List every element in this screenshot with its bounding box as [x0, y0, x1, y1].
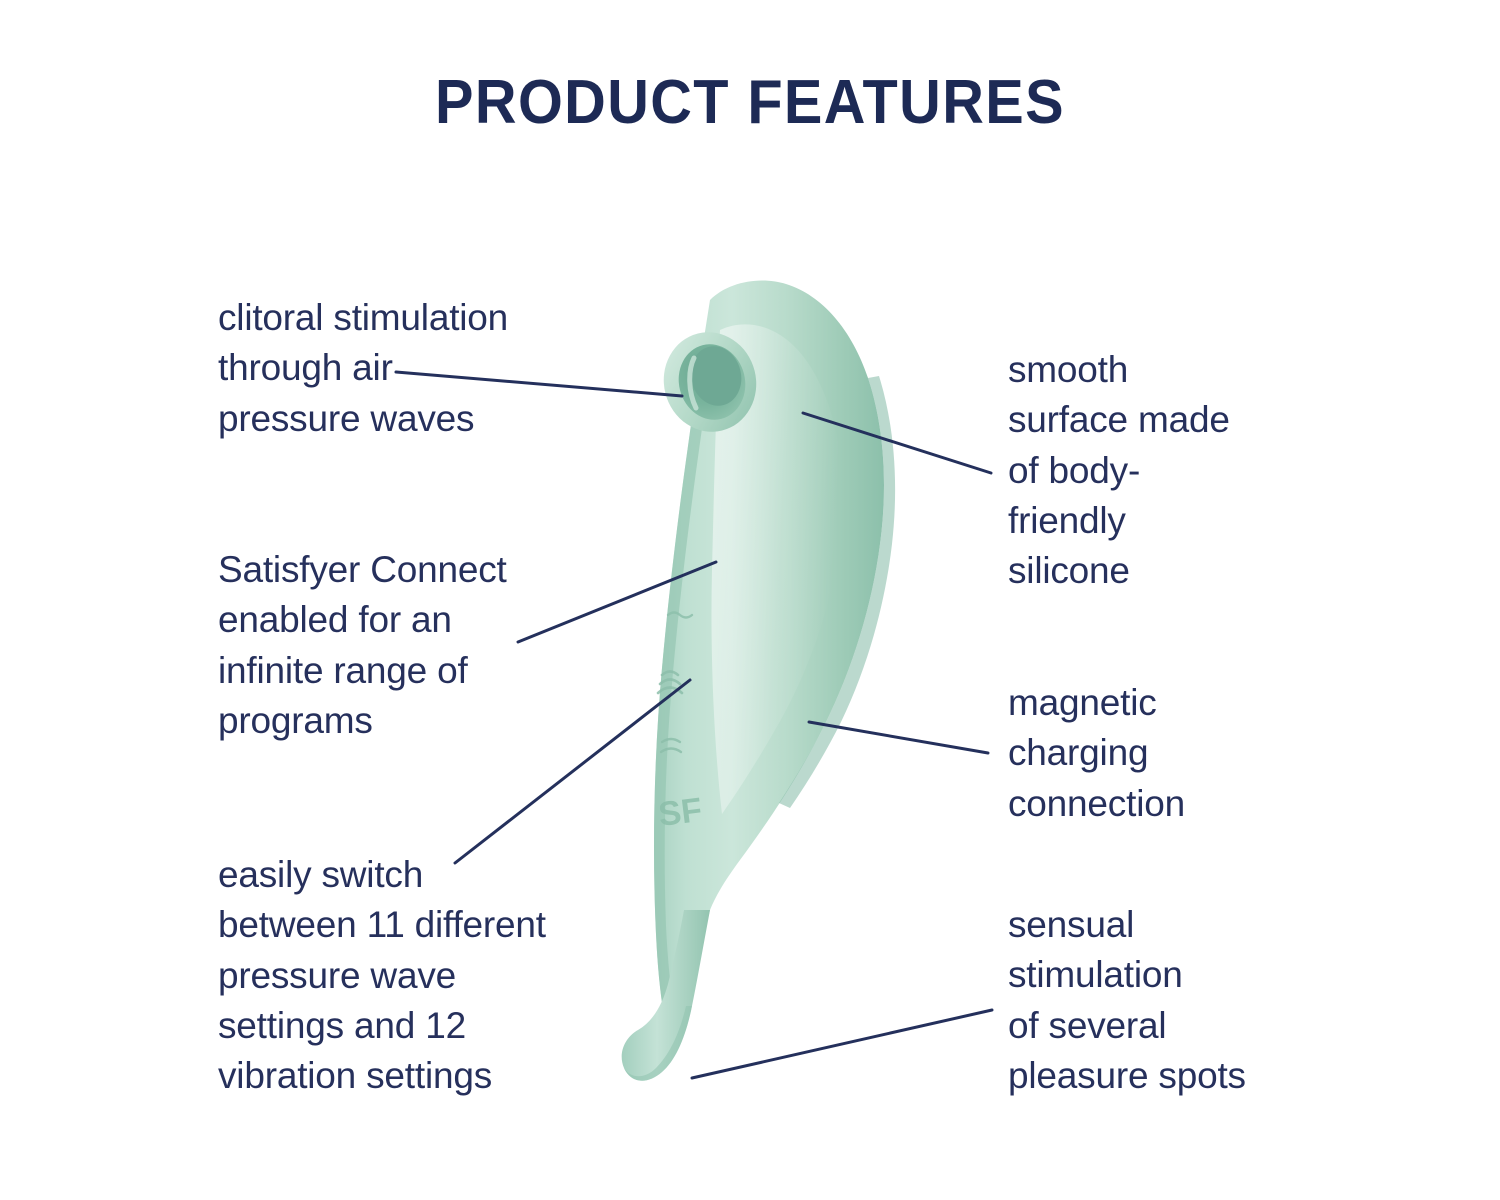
callout-pleasure-spots: sensual stimulation of several pleasure …: [1008, 900, 1308, 1101]
page-title: PRODUCT FEATURES: [53, 72, 1448, 134]
callout-air-pressure: clitoral stimulation through air pressur…: [218, 293, 638, 444]
product-illustration: SF: [600, 270, 920, 1120]
brand-mark: SF: [656, 791, 704, 834]
product-features-infographic: PRODUCT FEATURES: [0, 0, 1500, 1200]
callout-magnetic-charging: magnetic charging connection: [1008, 678, 1308, 829]
callout-satisfyer-connect: Satisfyer Connect enabled for an infinit…: [218, 545, 638, 746]
callout-silicone: smooth surface made of body- friendly si…: [1008, 345, 1308, 597]
callout-settings: easily switch between 11 different press…: [218, 850, 648, 1102]
